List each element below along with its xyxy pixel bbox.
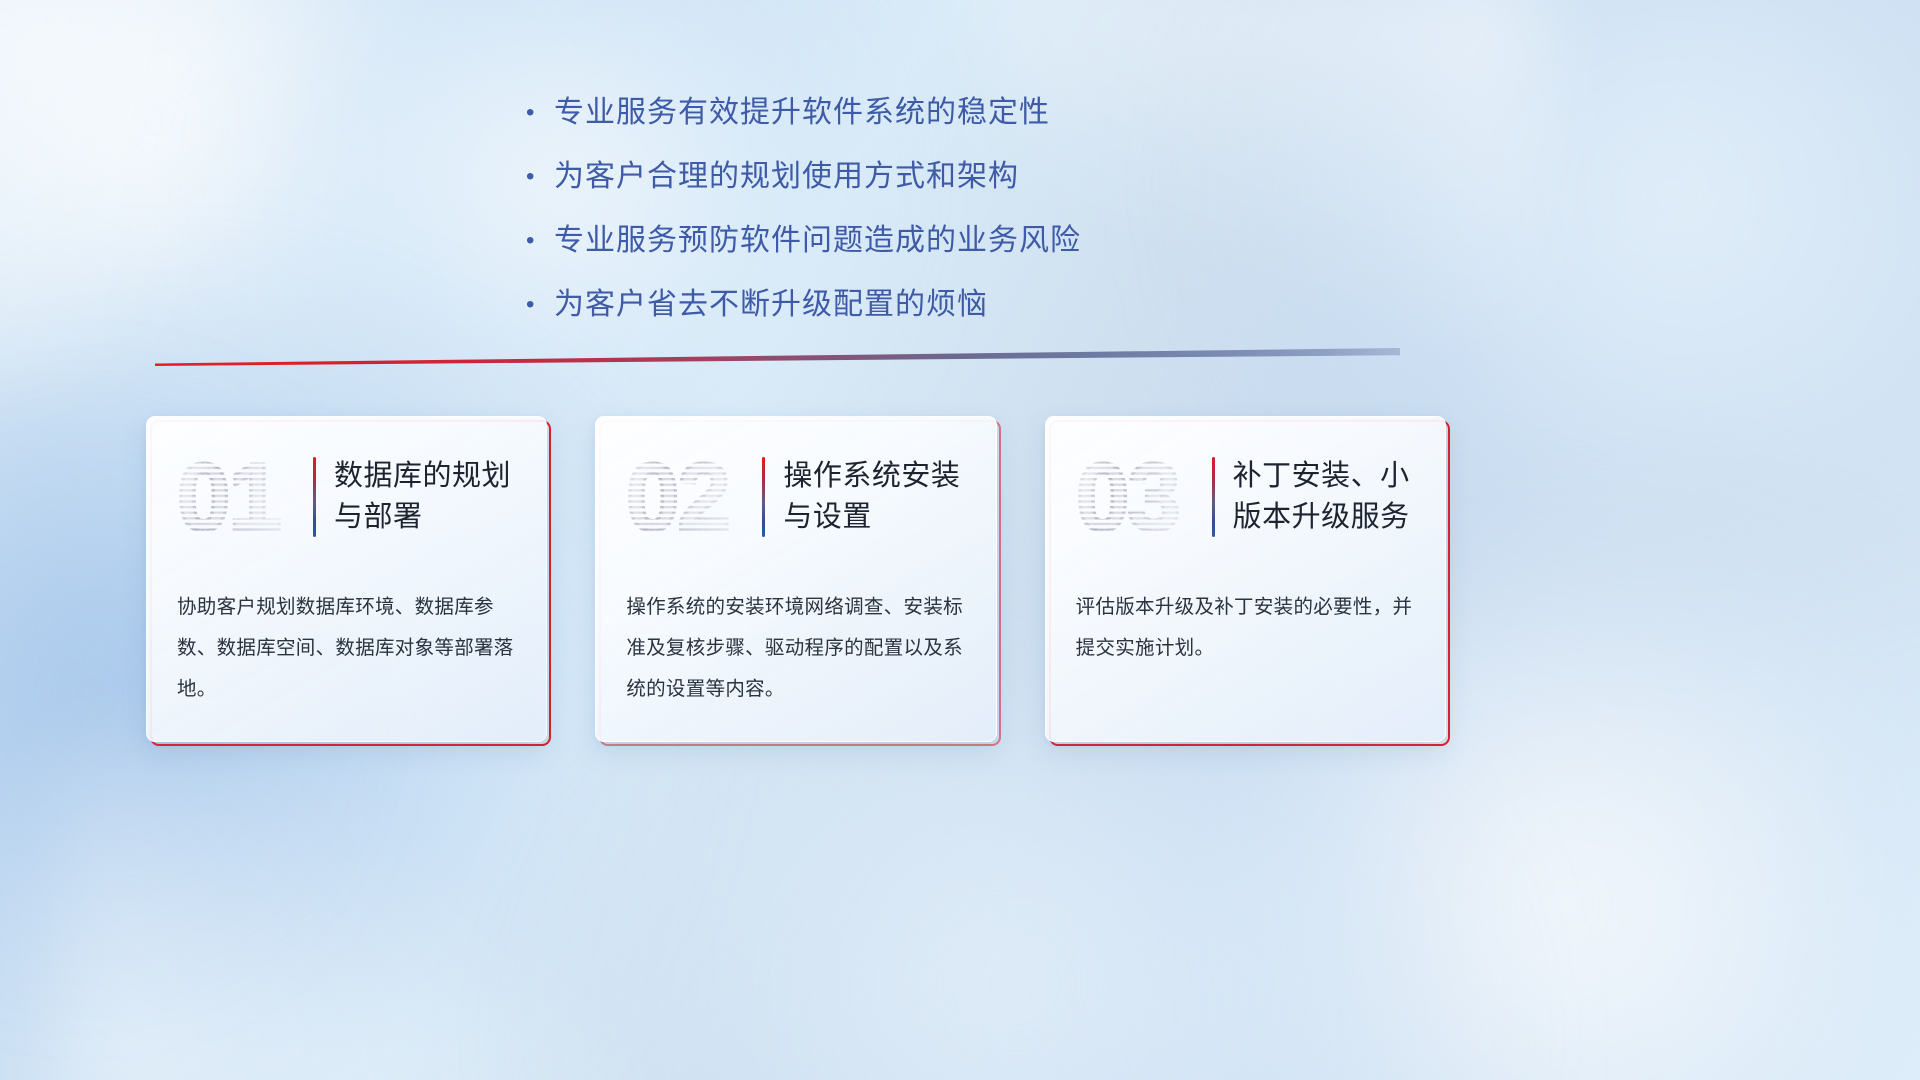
bullet-text: 为客户合理的规划使用方式和架构 xyxy=(554,152,1019,202)
card-number-02-icon: 02 02 xyxy=(626,450,744,544)
card-description: 评估版本升级及补丁安装的必要性，并提交实施计划。 xyxy=(1076,587,1415,669)
bullet-dot-icon: • xyxy=(520,88,554,138)
card-surface: 03 03 补丁安装、小版本升级服务 评估版本升级及补丁安装的必要性，并提交实施… xyxy=(1045,416,1446,742)
bullet-dot-icon: • xyxy=(520,280,554,330)
svg-text:01: 01 xyxy=(177,450,280,544)
bullet-text: 为客户省去不断升级配置的烦恼 xyxy=(554,280,988,330)
card-number-01-icon: 01 01 xyxy=(177,450,295,544)
svg-text:03: 03 xyxy=(1076,450,1179,544)
background-light-streak-bottom-left xyxy=(60,740,680,1080)
card-accent-rule xyxy=(1212,457,1215,537)
card-number-03-icon: 03 03 xyxy=(1076,450,1194,544)
card-title: 数据库的规划与部署 xyxy=(334,456,516,538)
svg-text:02: 02 xyxy=(626,450,729,544)
bullet-text: 专业服务有效提升软件系统的稳定性 xyxy=(554,88,1050,138)
list-item: • 专业服务预防软件问题造成的业务风险 xyxy=(520,216,1220,266)
card-description: 操作系统的安装环境网络调查、安装标准及复核步骤、驱动程序的配置以及系统的设置等内… xyxy=(626,587,965,710)
card-surface: 02 02 操作系统安装与设置 操作系统的安装环境网络调查、安装标准及复核步骤、… xyxy=(595,416,996,742)
card-surface: 01 01 数据库的规划与部署 协助客户规划数据库环境、数据库参数、数据库空间、… xyxy=(146,416,547,742)
card-header: 02 02 操作系统安装与设置 xyxy=(626,443,965,551)
card-header: 01 01 数据库的规划与部署 xyxy=(177,443,516,551)
divider-gradient-wedge xyxy=(155,348,1400,366)
card-description: 协助客户规划数据库环境、数据库参数、数据库空间、数据库对象等部署落地。 xyxy=(177,587,516,710)
bullet-dot-icon: • xyxy=(520,152,554,202)
card-title: 补丁安装、小版本升级服务 xyxy=(1233,456,1415,538)
card-title: 操作系统安装与设置 xyxy=(783,456,965,538)
card-accent-rule xyxy=(313,457,316,537)
benefits-bullet-list: • 专业服务有效提升软件系统的稳定性 • 为客户合理的规划使用方式和架构 • 专… xyxy=(520,88,1220,330)
list-item: • 专业服务有效提升软件系统的稳定性 xyxy=(520,88,1220,138)
list-item: • 为客户合理的规划使用方式和架构 xyxy=(520,152,1220,202)
card-accent-rule xyxy=(762,457,765,537)
background-glow-top-left xyxy=(0,0,600,480)
service-card-03[interactable]: 03 03 补丁安装、小版本升级服务 评估版本升级及补丁安装的必要性，并提交实施… xyxy=(1049,420,1450,746)
service-card-02[interactable]: 02 02 操作系统安装与设置 操作系统的安装环境网络调查、安装标准及复核步骤、… xyxy=(599,420,1000,746)
bullet-dot-icon: • xyxy=(520,216,554,266)
section-divider xyxy=(155,348,1400,366)
background-light-streak-top-left xyxy=(0,0,460,390)
service-card-01[interactable]: 01 01 数据库的规划与部署 协助客户规划数据库环境、数据库参数、数据库空间、… xyxy=(150,420,551,746)
bullet-text: 专业服务预防软件问题造成的业务风险 xyxy=(554,216,1081,266)
card-header: 03 03 补丁安装、小版本升级服务 xyxy=(1076,443,1415,551)
list-item: • 为客户省去不断升级配置的烦恼 xyxy=(520,280,1220,330)
service-card-list: 01 01 数据库的规划与部署 协助客户规划数据库环境、数据库参数、数据库空间、… xyxy=(150,420,1450,746)
